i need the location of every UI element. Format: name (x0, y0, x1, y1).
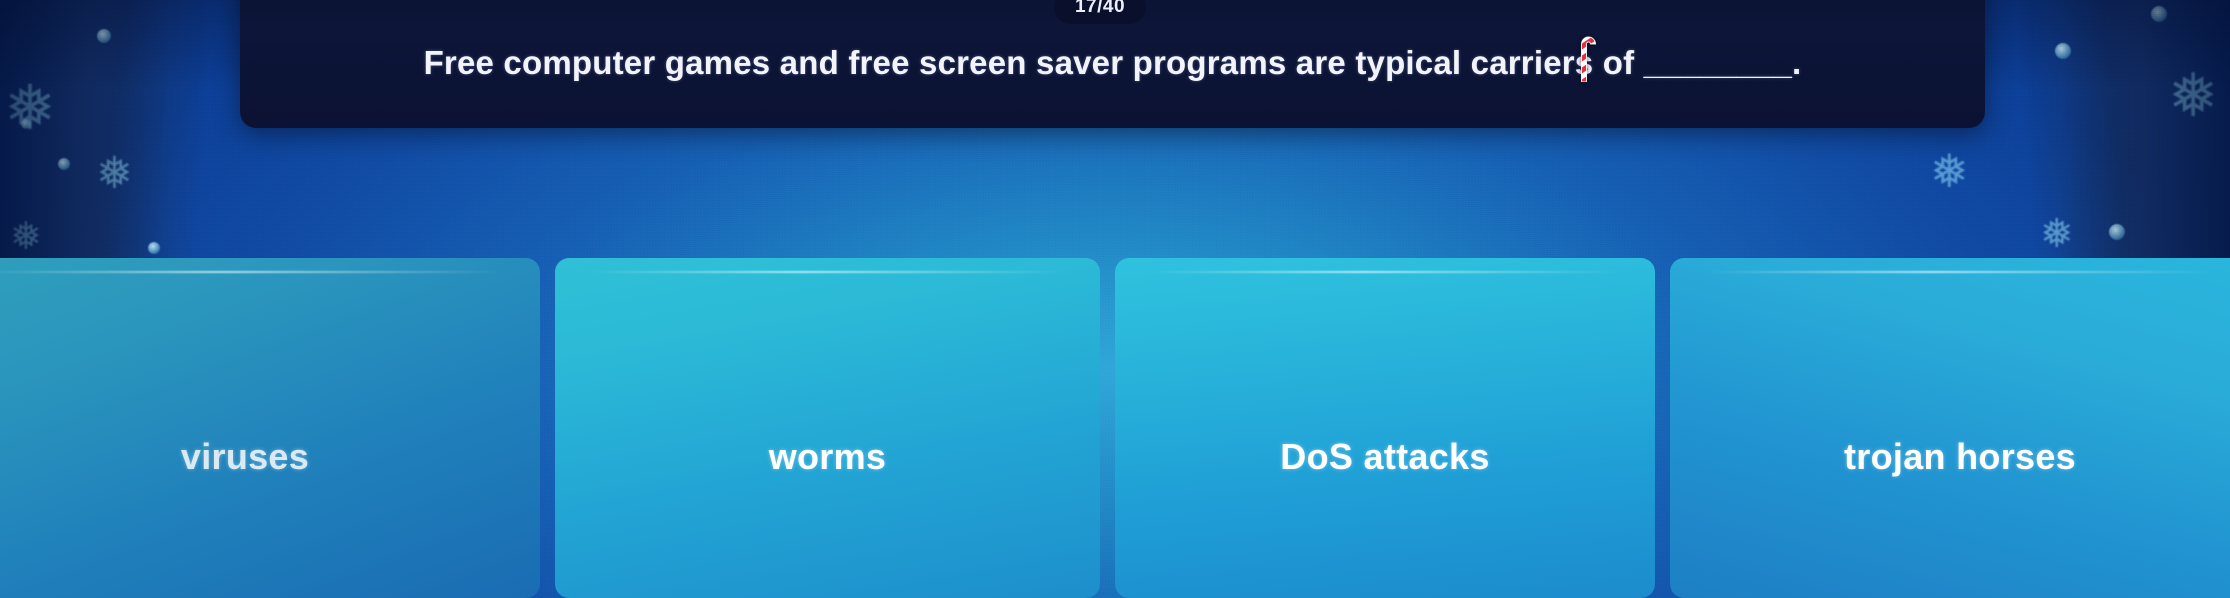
snow-dot (2151, 6, 2167, 22)
answer-tile-trojan-horses[interactable]: trojan horses (1670, 258, 2230, 598)
snow-dot (2109, 224, 2125, 240)
answer-label: DoS attacks (1280, 436, 1489, 478)
snowflake-icon: ❅ (4, 78, 56, 140)
snowflake-icon: ❅ (10, 218, 42, 256)
answer-tile-worms[interactable]: worms (555, 258, 1100, 598)
answer-tile-dos-attacks[interactable]: DoS attacks (1115, 258, 1655, 598)
tile-highlight (1705, 271, 2215, 273)
tile-highlight (0, 271, 505, 273)
answer-label: trojan horses (1844, 436, 2076, 478)
snowflake-icon: ❅ (2040, 214, 2074, 254)
answer-label: worms (769, 436, 887, 478)
snow-dot (97, 29, 111, 43)
tile-highlight (588, 271, 1068, 273)
snowflake-icon: ❅ (96, 152, 133, 196)
question-text: Free computer games and free screen save… (424, 44, 1802, 82)
answer-tile-viruses[interactable]: viruses (0, 258, 540, 598)
snow-dot (2055, 43, 2071, 59)
snow-dot (58, 158, 70, 170)
question-counter: 17/40 (1054, 0, 1146, 24)
answer-options: viruses worms DoS attacks trojan horses (0, 258, 2230, 598)
quiz-screen: ❅❅❅❅❅❅ Free computer games and free scre… (0, 0, 2230, 598)
tile-highlight (1147, 271, 1622, 273)
snow-dot (148, 242, 160, 254)
snowflake-icon: ❅ (2168, 66, 2218, 126)
answer-label: viruses (181, 436, 309, 478)
snowflake-icon: ❅ (1930, 148, 1969, 194)
